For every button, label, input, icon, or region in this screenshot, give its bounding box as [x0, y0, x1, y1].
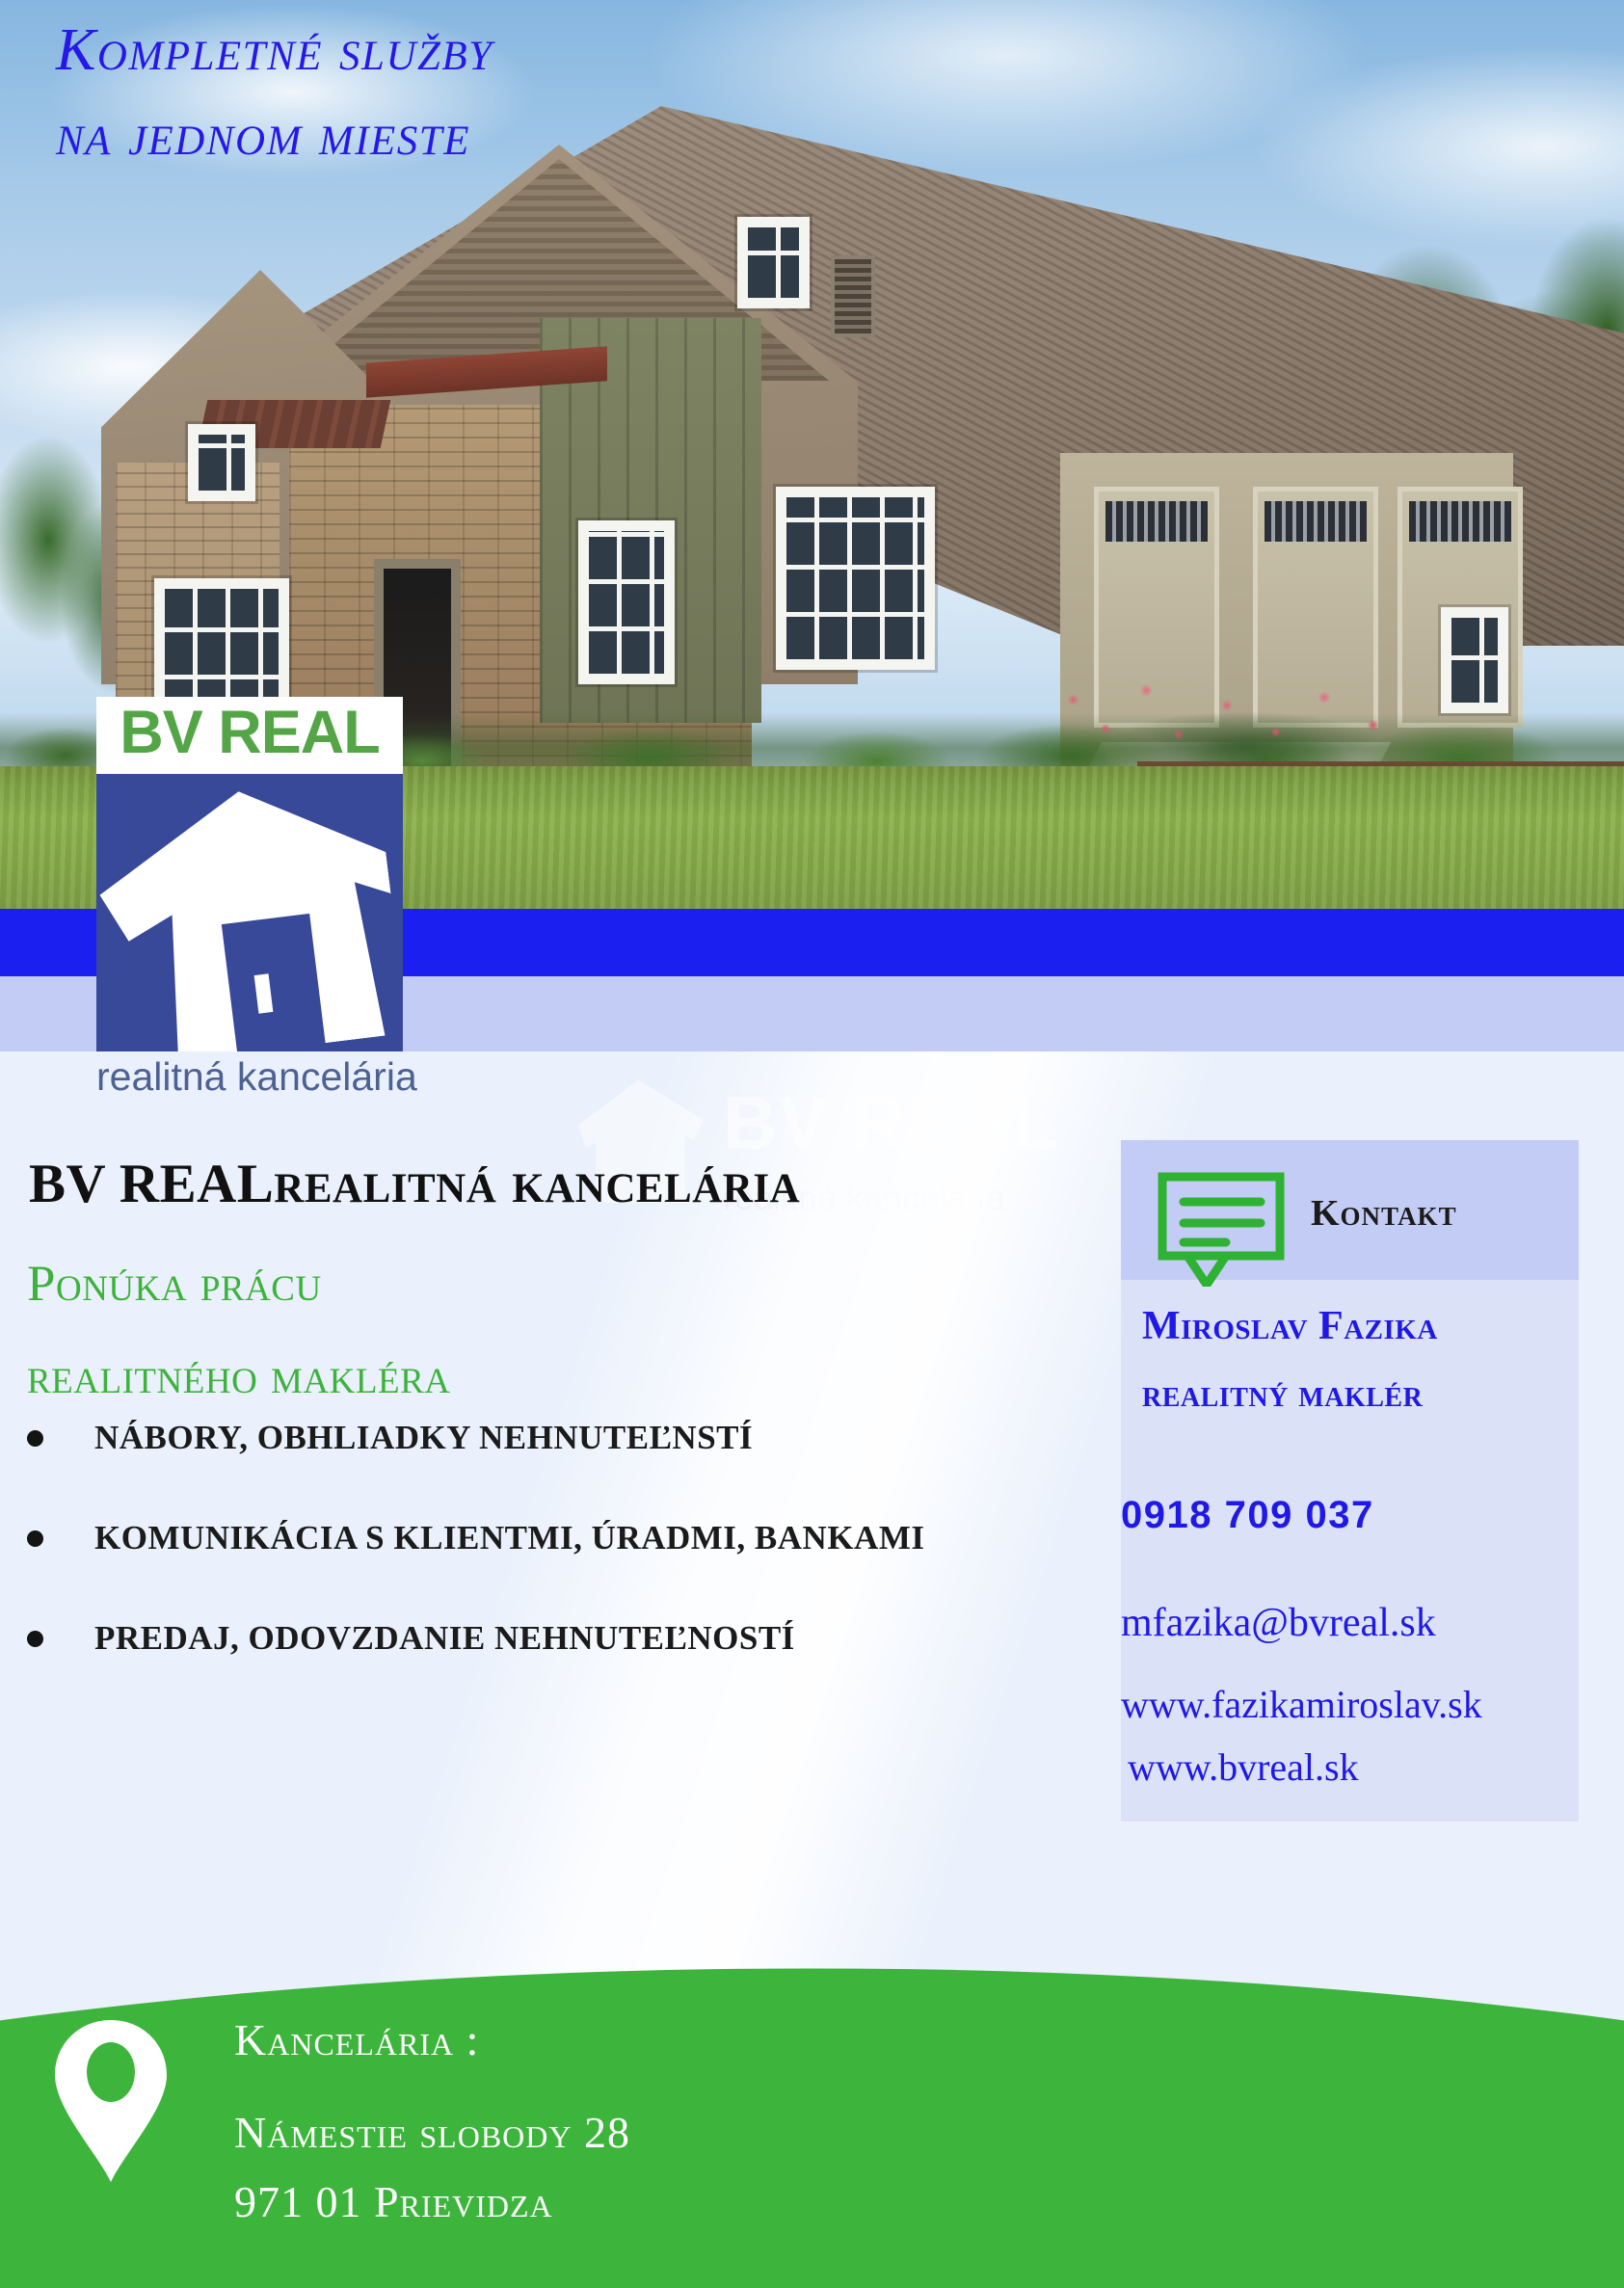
contact-heading: Kontakt	[1311, 1192, 1457, 1235]
window	[737, 217, 810, 308]
headline: Kompletné služby na jednom mieste	[56, 8, 827, 177]
speech-bubble-icon	[1157, 1171, 1301, 1287]
list-item-label: NÁBORY, OBHLIADKY NEHNUTEĽNSTÍ	[94, 1419, 753, 1456]
contact-website-company[interactable]: www.bvreal.sk	[1128, 1744, 1359, 1790]
contact-website-personal[interactable]: www.fazikamiroslav.sk	[1121, 1682, 1482, 1727]
page-title-rest: realitná kancelária	[274, 1150, 800, 1215]
gable-vent	[831, 255, 875, 337]
contact-email[interactable]: mfazika@bvreal.sk	[1121, 1600, 1436, 1646]
logo-house-icon	[96, 774, 403, 1051]
list-item: NÁBORY, OBHLIADKY NEHNUTEĽNSTÍ	[15, 1419, 1095, 1457]
page-title: BV REALrealitná kancelária	[29, 1149, 800, 1217]
window	[1441, 607, 1508, 713]
office-label: Kancelária :	[234, 2014, 479, 2065]
bullet-dot-icon	[27, 1631, 43, 1647]
list-item-label: PREDAJ, ODOVZDANIE NEHNUTEĽNOSTÍ	[94, 1619, 795, 1657]
house-door-shape	[222, 914, 326, 1051]
contact-panel	[1121, 1280, 1579, 1822]
office-address-line-2: 971 01 Prievidza	[234, 2176, 553, 2227]
logo-wordmark: BV REAL	[96, 703, 403, 763]
duties-list: NÁBORY, OBHLIADKY NEHNUTEĽNSTÍ KOMUNIKÁC…	[15, 1419, 1095, 1719]
office-address-line-1: Námestie slobody 28	[234, 2107, 630, 2158]
map-pin-icon	[53, 2018, 169, 2184]
bullet-dot-icon	[27, 1430, 43, 1447]
offer-line-1: Ponúka prácu	[27, 1255, 322, 1313]
window	[578, 520, 675, 684]
offer-line-2: realitného makléra	[27, 1347, 450, 1405]
headline-line-2: na jednom mieste	[56, 93, 827, 177]
contact-person-name: Miroslav Fazika	[1142, 1303, 1438, 1349]
bullet-dot-icon	[27, 1530, 43, 1547]
contact-person-role: realitný maklér	[1142, 1370, 1423, 1416]
window	[188, 424, 255, 501]
contact-phone[interactable]: 0918 709 037	[1121, 1494, 1374, 1537]
list-item: KOMUNIKÁCIA S KLIENTMI, ÚRADMI, BANKAMI	[15, 1519, 1095, 1557]
window	[776, 487, 935, 670]
list-item: PREDAJ, ODOVZDANIE NEHNUTEĽNOSTÍ	[15, 1619, 1095, 1658]
page-title-brand: BV REAL	[29, 1154, 274, 1214]
flyer-poster: Kompletné služby na jednom mieste BV REA…	[0, 0, 1624, 2288]
logo-subtitle: realitná kancelária	[96, 1054, 424, 1100]
headline-line-1: Kompletné služby	[56, 8, 827, 93]
list-item-label: KOMUNIKÁCIA S KLIENTMI, ÚRADMI, BANKAMI	[94, 1519, 924, 1556]
bv-real-logo: BV REAL	[96, 697, 403, 1051]
